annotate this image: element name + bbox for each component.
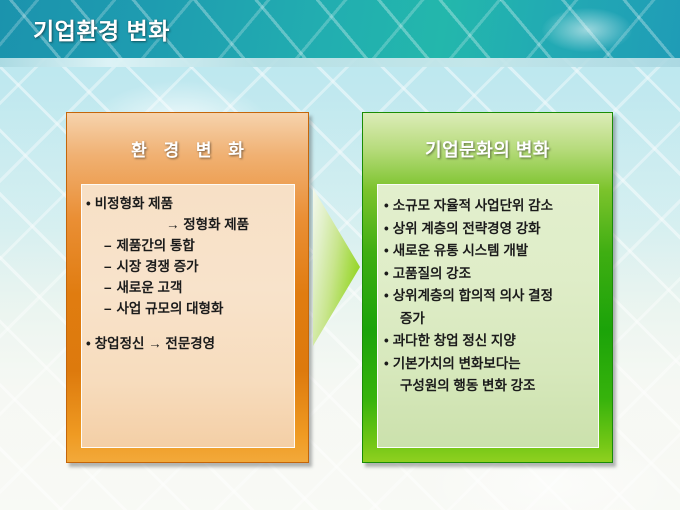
bullet-line: 증가 (378, 308, 602, 331)
bullet-line: 창업정신 → 전문경영 (82, 333, 296, 354)
bullet-line: 새로운 고객 (82, 277, 296, 298)
corporate-culture-change-content: 소규모 자율적 사업단위 감소상위 계층의 전략경영 강화새로운 유통 시스템 … (378, 195, 602, 398)
bullet-line: 기본가치의 변화보다는 (378, 353, 602, 376)
bullet-line: 구성원의 행동 변화 강조 (378, 375, 602, 398)
bullet-line: 상위 계층의 전략경영 강화 (378, 218, 602, 241)
title-underline-strip (0, 58, 680, 67)
spacer (82, 319, 296, 333)
bullet-line: 상위계층의 합의적 의사 결정 (378, 285, 602, 308)
bullet-line: 시장 경쟁 증가 (82, 256, 296, 277)
corporate-culture-change-heading: 기업문화의 변화 (363, 136, 612, 162)
bullet-line: 과다한 창업 정신 지양 (378, 330, 602, 353)
bullet-line: 비정형화 제품 (82, 193, 296, 214)
bullet-line: 소규모 자율적 사업단위 감소 (378, 195, 602, 218)
bullet-line: 제품간의 통합 (82, 235, 296, 256)
bullet-line: → 정형화 제품 (82, 214, 296, 235)
right-arrow-icon (313, 188, 363, 346)
bullet-line: 새로운 유통 시스템 개발 (378, 240, 602, 263)
bullet-line: 사업 규모의 대형화 (82, 298, 296, 319)
environment-change-content: 비정형화 제품→ 정형화 제품제품간의 통합시장 경쟁 증가새로운 고객사업 규… (82, 193, 296, 354)
slide-canvas: 기업환경 변화 환 경 변 화 비정형화 제품→ 정형화 제품제품간의 통합시장… (0, 0, 680, 510)
page-title: 기업환경 변화 (33, 12, 170, 46)
title-band-glow (542, 8, 632, 52)
environment-change-heading: 환 경 변 화 (67, 136, 308, 161)
bullet-line: 고품질의 강조 (378, 263, 602, 286)
